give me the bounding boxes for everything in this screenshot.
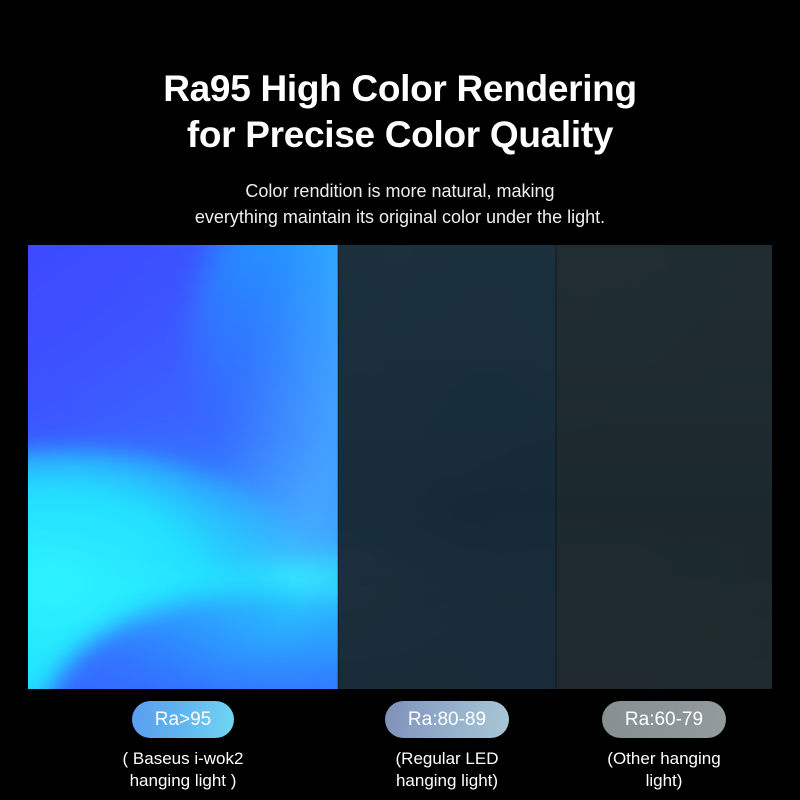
product-feature-page: Ra95 High Color Rendering for Precise Co… xyxy=(0,0,800,800)
comparison-legend-row: Ra>95 ( Baseus i-wok2 hanging light ) Ra… xyxy=(28,701,772,792)
comparison-segment-ra80-89 xyxy=(338,245,556,689)
segment-desaturation-overlay xyxy=(556,245,772,689)
headline-line-1: Ra95 High Color Rendering xyxy=(0,66,800,112)
subheadline-line-2: everything maintain its original color u… xyxy=(0,204,800,230)
status-badge-ra60-79: Ra:60-79 xyxy=(602,701,726,738)
legend-caption-ra60-79: (Other hanging light) xyxy=(607,748,720,792)
legend-item-ra60-79: Ra:60-79 (Other hanging light) xyxy=(556,701,772,792)
legend-item-ra95: Ra>95 ( Baseus i-wok2 hanging light ) xyxy=(28,701,338,792)
headline-line-2: for Precise Color Quality xyxy=(0,112,800,158)
segment-divider-1 xyxy=(337,245,339,689)
subheadline-block: Color rendition is more natural, making … xyxy=(0,178,800,230)
segment-desaturation-overlay xyxy=(338,245,556,689)
color-rendering-comparison-image xyxy=(28,245,772,689)
subheadline-line-1: Color rendition is more natural, making xyxy=(0,178,800,204)
segment-divider-2 xyxy=(555,245,557,689)
legend-item-ra80-89: Ra:80-89 (Regular LED hanging light) xyxy=(338,701,556,792)
comparison-segment-ra95 xyxy=(28,245,338,689)
comparison-segment-ra60-79 xyxy=(556,245,772,689)
legend-caption-ra80-89: (Regular LED hanging light) xyxy=(396,748,499,792)
status-badge-ra95: Ra>95 xyxy=(132,701,235,738)
legend-caption-ra95: ( Baseus i-wok2 hanging light ) xyxy=(123,748,244,792)
status-badge-ra80-89: Ra:80-89 xyxy=(385,701,509,738)
headline-block: Ra95 High Color Rendering for Precise Co… xyxy=(0,66,800,158)
